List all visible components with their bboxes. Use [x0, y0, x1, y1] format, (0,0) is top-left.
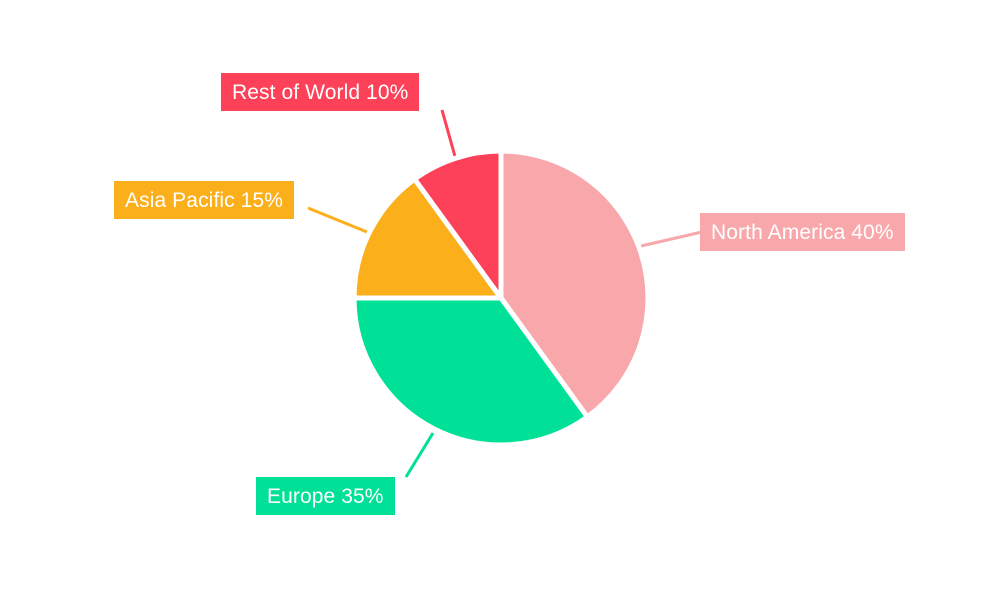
leader-line-rest-of-world [442, 110, 456, 160]
pie-label-rest-of-world[interactable]: Rest of World 10% [221, 73, 419, 111]
pie-chart-canvas [0, 0, 1000, 600]
pie-label-europe[interactable]: Europe 35% [256, 477, 395, 515]
pie-label-asia-pacific-text: Asia Pacific 15% [125, 190, 283, 211]
pie-chart-figure: North America 40% Europe 35% Asia Pacifi… [0, 0, 1000, 600]
pie-label-europe-text: Europe 35% [267, 486, 384, 507]
pie-label-north-america-text: North America 40% [711, 222, 894, 243]
leader-line-north-america [641, 232, 702, 246]
pie-label-rest-of-world-text: Rest of World 10% [232, 82, 408, 103]
leader-line-asia-pacific [308, 208, 367, 232]
pie-slices [354, 151, 648, 445]
leader-line-europe [406, 433, 433, 477]
pie-label-north-america[interactable]: North America 40% [700, 213, 905, 251]
pie-label-asia-pacific[interactable]: Asia Pacific 15% [114, 181, 294, 219]
